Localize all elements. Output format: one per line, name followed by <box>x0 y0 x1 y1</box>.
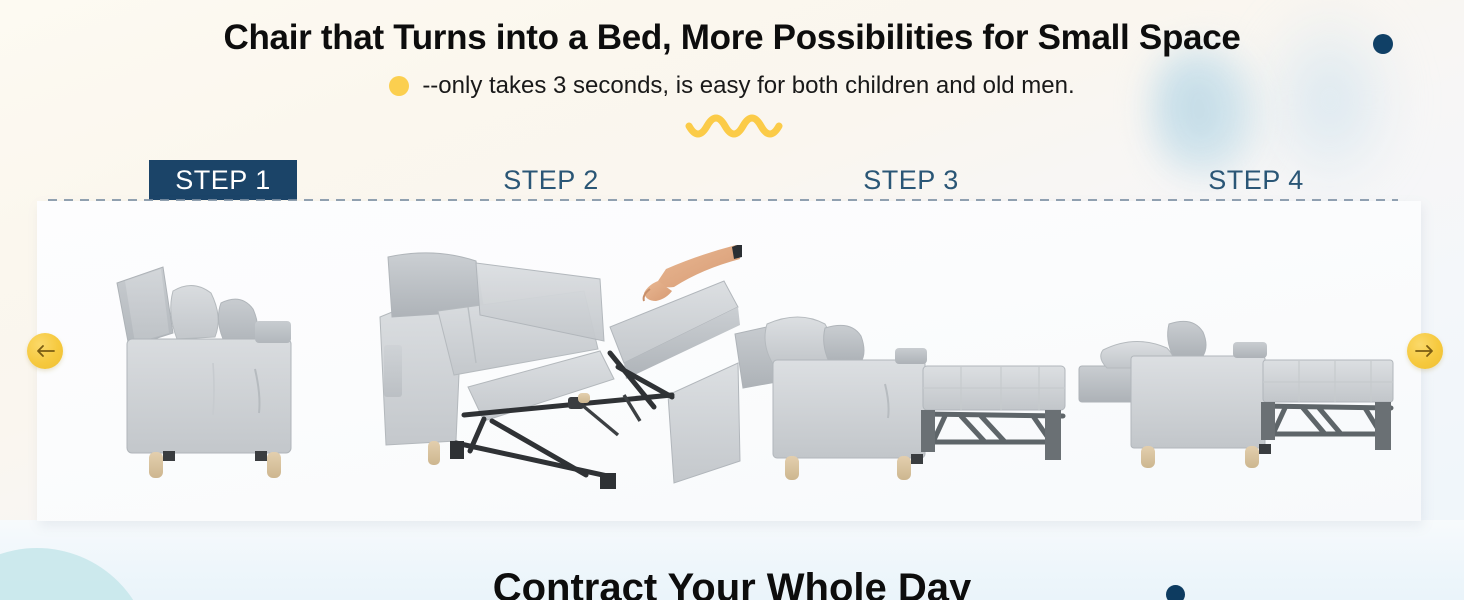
carousel-prev-button[interactable] <box>27 333 63 369</box>
wavy-line-decoration-icon <box>685 112 785 146</box>
tab-step-4-label: STEP 4 <box>1208 165 1304 196</box>
subtitle-row: --only takes 3 seconds, is easy for both… <box>0 72 1464 100</box>
arrow-left-icon <box>35 344 55 358</box>
tab-step-3-label: STEP 3 <box>863 165 959 196</box>
tab-step-1-label: STEP 1 <box>175 165 271 196</box>
page-subtitle: --only takes 3 seconds, is easy for both… <box>422 72 1074 100</box>
arrow-right-icon <box>1415 344 1435 358</box>
carousel-next-button[interactable] <box>1407 333 1443 369</box>
navy-dot-icon-footer <box>1166 585 1185 600</box>
tab-step-3[interactable]: STEP 3 <box>837 160 985 200</box>
step-4-flat-bed-image <box>1073 310 1403 490</box>
page-title: Chair that Turns into a Bed, More Possib… <box>0 18 1464 58</box>
tab-step-2-label: STEP 2 <box>503 165 599 196</box>
tab-step-2[interactable]: STEP 2 <box>477 160 625 200</box>
step-3-chair-extended-image <box>733 300 1073 490</box>
tab-step-4[interactable]: STEP 4 <box>1182 160 1330 200</box>
step-tabs: STEP 1 STEP 2 STEP 3 STEP 4 <box>37 160 1395 200</box>
navy-dot-icon <box>1373 34 1393 54</box>
step-2-chair-unfolding-image <box>372 245 742 495</box>
footer-title: Contract Your Whole Day <box>0 566 1464 600</box>
step-1-chair-image <box>95 255 325 495</box>
tab-step-1[interactable]: STEP 1 <box>149 160 297 200</box>
yellow-dot-icon <box>389 76 409 96</box>
